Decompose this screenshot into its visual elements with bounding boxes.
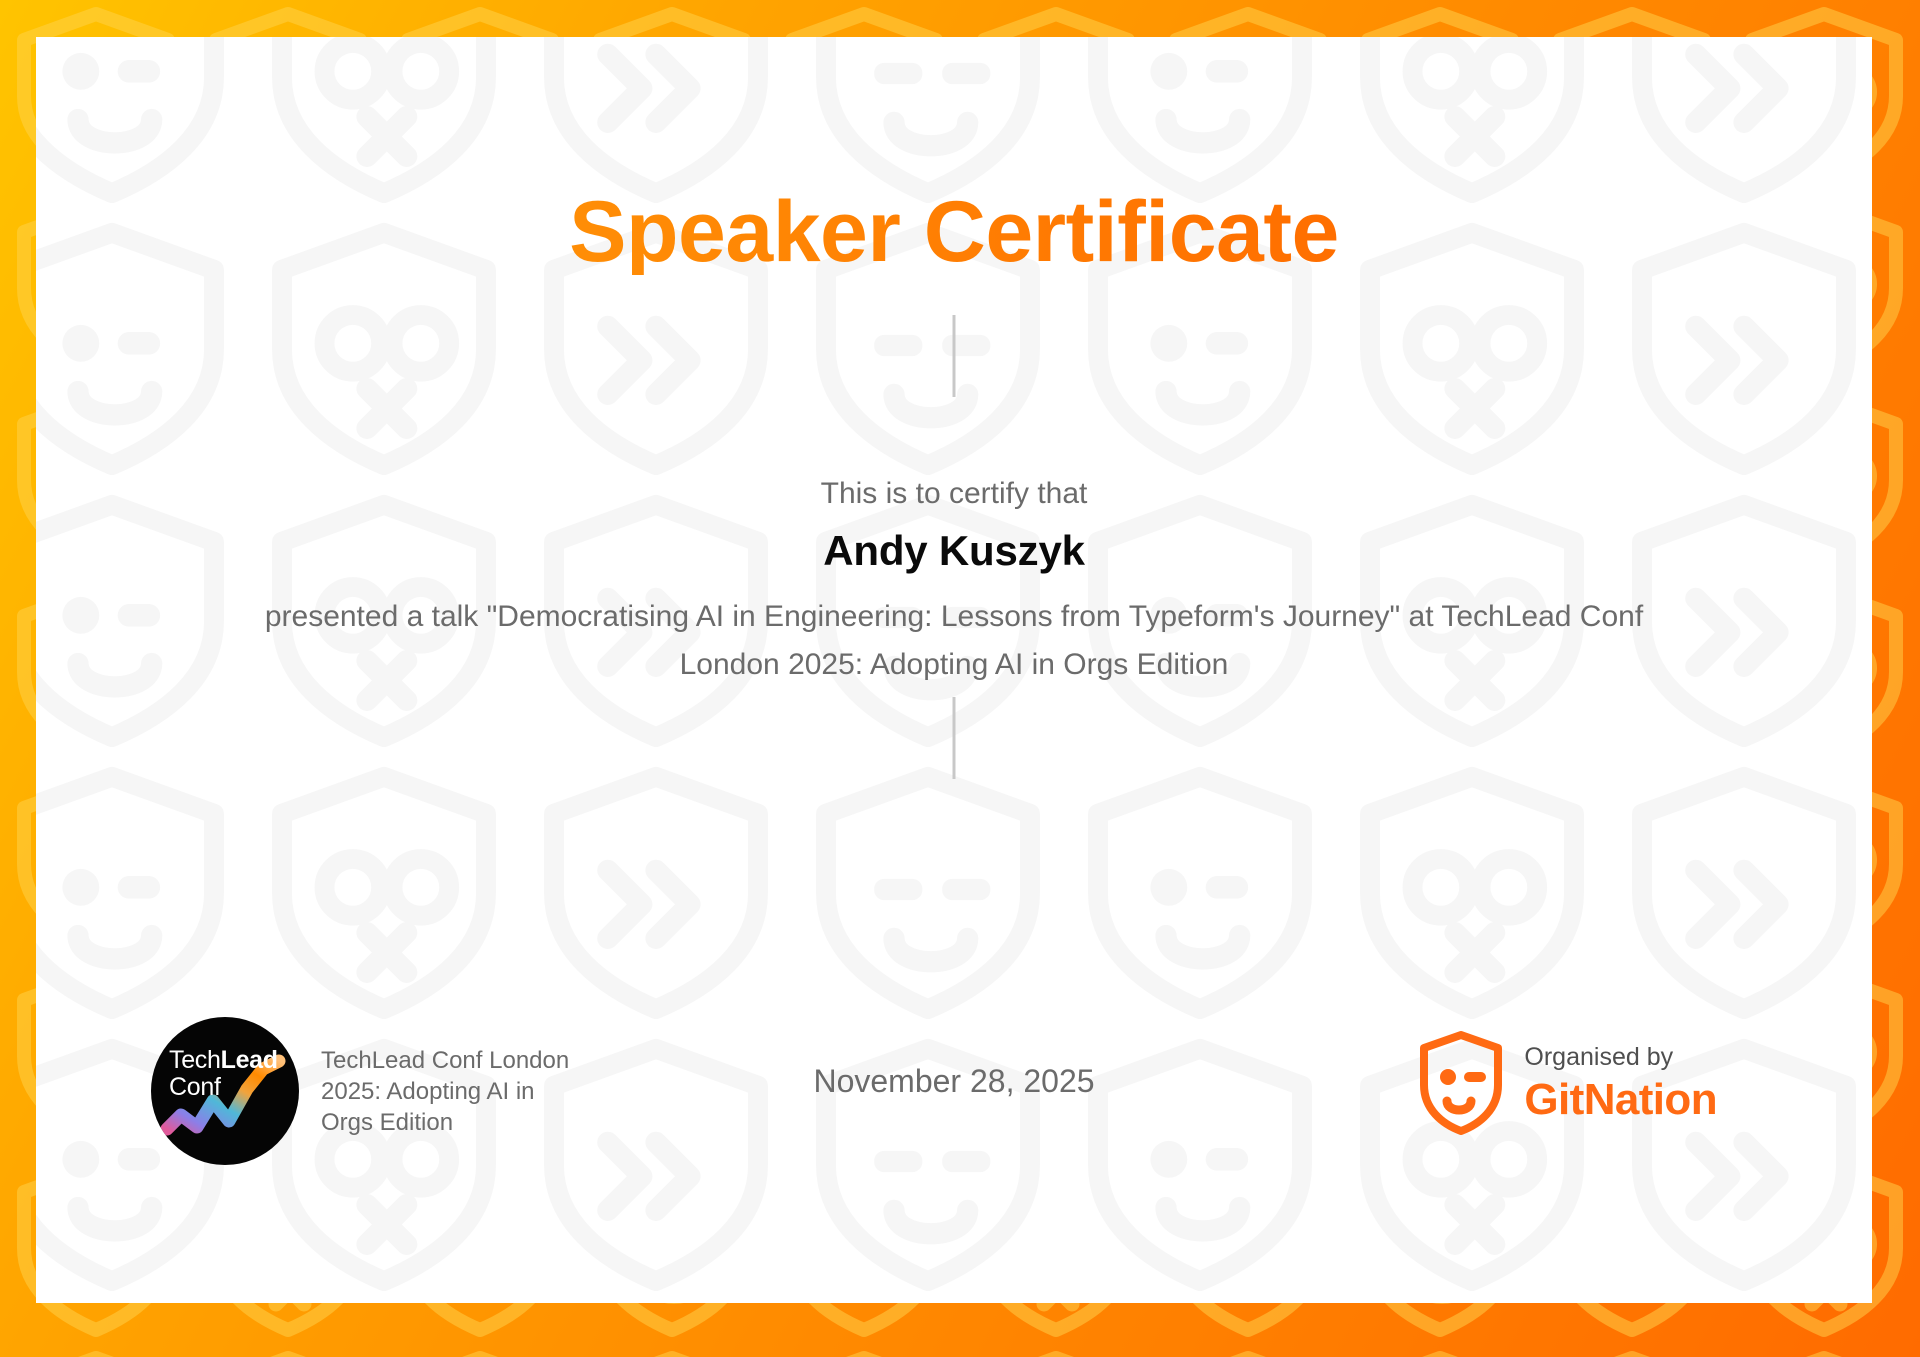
page-title: Speaker Certificate bbox=[36, 189, 1872, 275]
divider-top bbox=[953, 315, 956, 397]
organiser-name: GitNation bbox=[1524, 1078, 1717, 1122]
certificate-footer: TechLead Conf TechLead Conf London 2025:… bbox=[36, 1017, 1872, 1217]
divider-bottom bbox=[953, 697, 956, 779]
recipient-name: Andy Kuszyk bbox=[36, 527, 1872, 575]
certify-line: This is to certify that bbox=[36, 477, 1872, 511]
talk-statement: presented a talk "Democratising AI in En… bbox=[244, 593, 1664, 689]
organised-by-label: Organised by bbox=[1524, 1045, 1717, 1070]
certificate-page: Speaker Certificate This is to certify t… bbox=[36, 37, 1872, 1303]
gitnation-shield-face-icon bbox=[1418, 1031, 1504, 1135]
organiser-block: Organised by GitNation bbox=[1418, 1031, 1717, 1135]
certificate-canvas: Speaker Certificate This is to certify t… bbox=[0, 0, 1920, 1357]
